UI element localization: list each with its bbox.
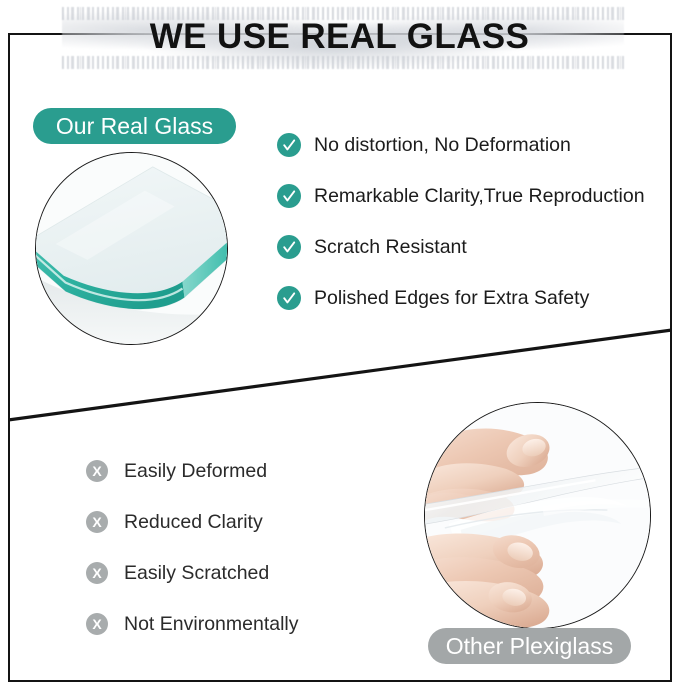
badge-our-real-glass: Our Real Glass <box>33 108 236 144</box>
feature-label: Remarkable Clarity,True Reproduction <box>314 185 645 208</box>
feature-row: Polished Edges for Extra Safety <box>277 284 645 312</box>
drawback-label: Not Environmentally <box>124 613 299 636</box>
feature-label: No distortion, No Deformation <box>314 134 571 157</box>
page-title: WE USE REAL GLASS <box>0 16 679 57</box>
drawback-label: Easily Deformed <box>124 460 267 483</box>
drawback-row: X Easily Deformed <box>86 457 299 485</box>
drawback-row: X Not Environmentally <box>86 610 299 638</box>
drawback-row: X Reduced Clarity <box>86 508 299 536</box>
drawback-label: Reduced Clarity <box>124 511 263 534</box>
feature-row: No distortion, No Deformation <box>277 131 645 159</box>
feature-label: Polished Edges for Extra Safety <box>314 287 589 310</box>
drawback-label: Easily Scratched <box>124 562 269 585</box>
feature-row: Remarkable Clarity,True Reproduction <box>277 182 645 210</box>
x-icon: X <box>86 460 108 482</box>
comparison-infographic: WE USE REAL GLASS Our Real Glass <box>0 0 679 691</box>
x-icon: X <box>86 511 108 533</box>
check-icon <box>277 133 301 157</box>
feature-row: Scratch Resistant <box>277 233 645 261</box>
check-icon <box>277 235 301 259</box>
check-icon <box>277 184 301 208</box>
plexiglass-drawback-list: X Easily Deformed X Reduced Clarity X Ea… <box>86 457 299 638</box>
drawback-row: X Easily Scratched <box>86 559 299 587</box>
x-icon: X <box>86 562 108 584</box>
real-glass-illustration <box>36 153 227 344</box>
plexiglass-illustration <box>425 403 650 628</box>
plexiglass-photo <box>424 402 651 629</box>
badge-other-plexiglass: Other Plexiglass <box>428 628 631 664</box>
x-icon: X <box>86 613 108 635</box>
real-glass-feature-list: No distortion, No Deformation Remarkable… <box>277 131 645 312</box>
feature-label: Scratch Resistant <box>314 236 467 259</box>
real-glass-photo <box>35 152 228 345</box>
check-icon <box>277 286 301 310</box>
